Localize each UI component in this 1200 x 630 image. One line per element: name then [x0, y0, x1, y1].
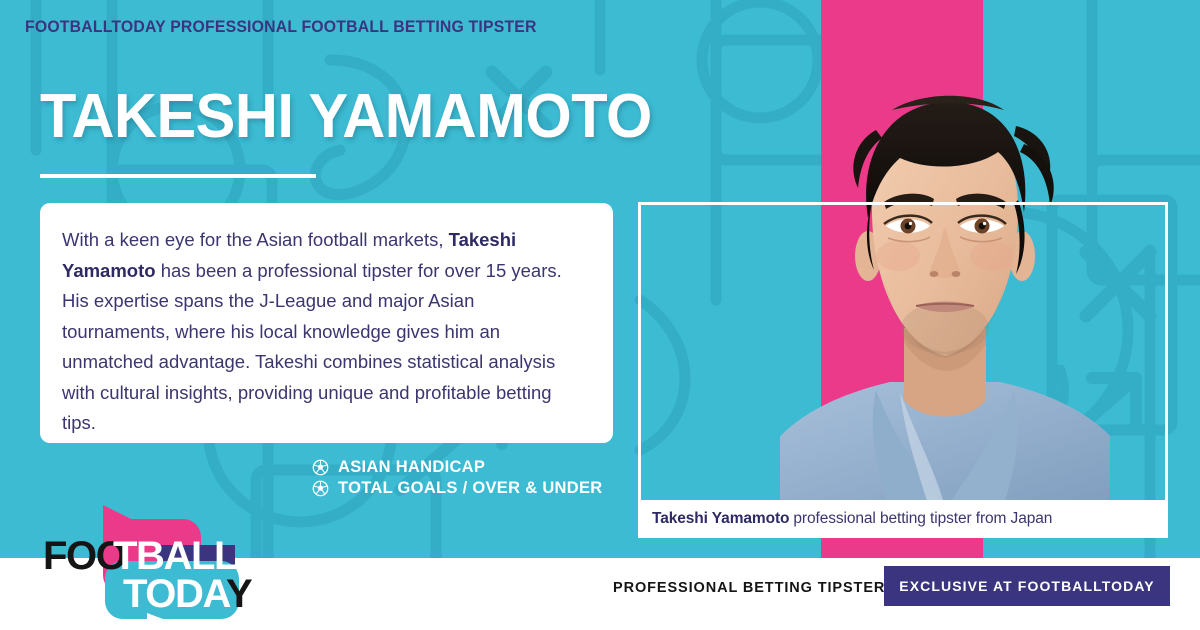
football-ball-icon [312, 459, 329, 476]
bio-card: With a keen eye for the Asian football m… [40, 203, 613, 443]
caption-description: professional betting tipster from Japan [793, 510, 1052, 528]
tipster-portrait-photo [780, 60, 1110, 510]
photo-caption: Takeshi Yamamoto professional betting ti… [638, 500, 1168, 538]
bio-lead-text: With a keen eye for the Asian football m… [62, 229, 449, 250]
caption-name: Takeshi Yamamoto [652, 510, 789, 528]
title-underline-rule [40, 174, 316, 178]
markets-list: ASIAN HANDICAP TOTAL GOALS / OVER & UNDE… [312, 458, 602, 498]
market-item: ASIAN HANDICAP [312, 458, 602, 477]
football-ball-icon [312, 480, 329, 497]
page-eyebrow: FOOTBALLTODAY PROFESSIONAL FOOTBALL BETT… [25, 17, 537, 37]
page-title: TAKESHI YAMAMOTO [40, 86, 652, 148]
footer-tagline: PROFESSIONAL BETTING TIPSTER [613, 580, 885, 596]
logo-word-today-light: TODA [123, 572, 231, 616]
bio-rest-text: has been a professional tipster for over… [62, 260, 562, 434]
footballtoday-logo[interactable]: FOO TBALL TODA Y [35, 497, 275, 619]
tipster-profile-card: Takeshi Yamamoto professional betting ti… [0, 0, 1200, 630]
market-item: TOTAL GOALS / OVER & UNDER [312, 479, 602, 498]
logo-word-today-dark: Y [226, 572, 253, 616]
market-label: TOTAL GOALS / OVER & UNDER [338, 479, 602, 498]
exclusive-badge-label: EXCLUSIVE AT FOOTBALLTODAY [899, 578, 1154, 594]
market-label: ASIAN HANDICAP [338, 458, 485, 477]
exclusive-badge[interactable]: EXCLUSIVE AT FOOTBALLTODAY [884, 566, 1170, 606]
